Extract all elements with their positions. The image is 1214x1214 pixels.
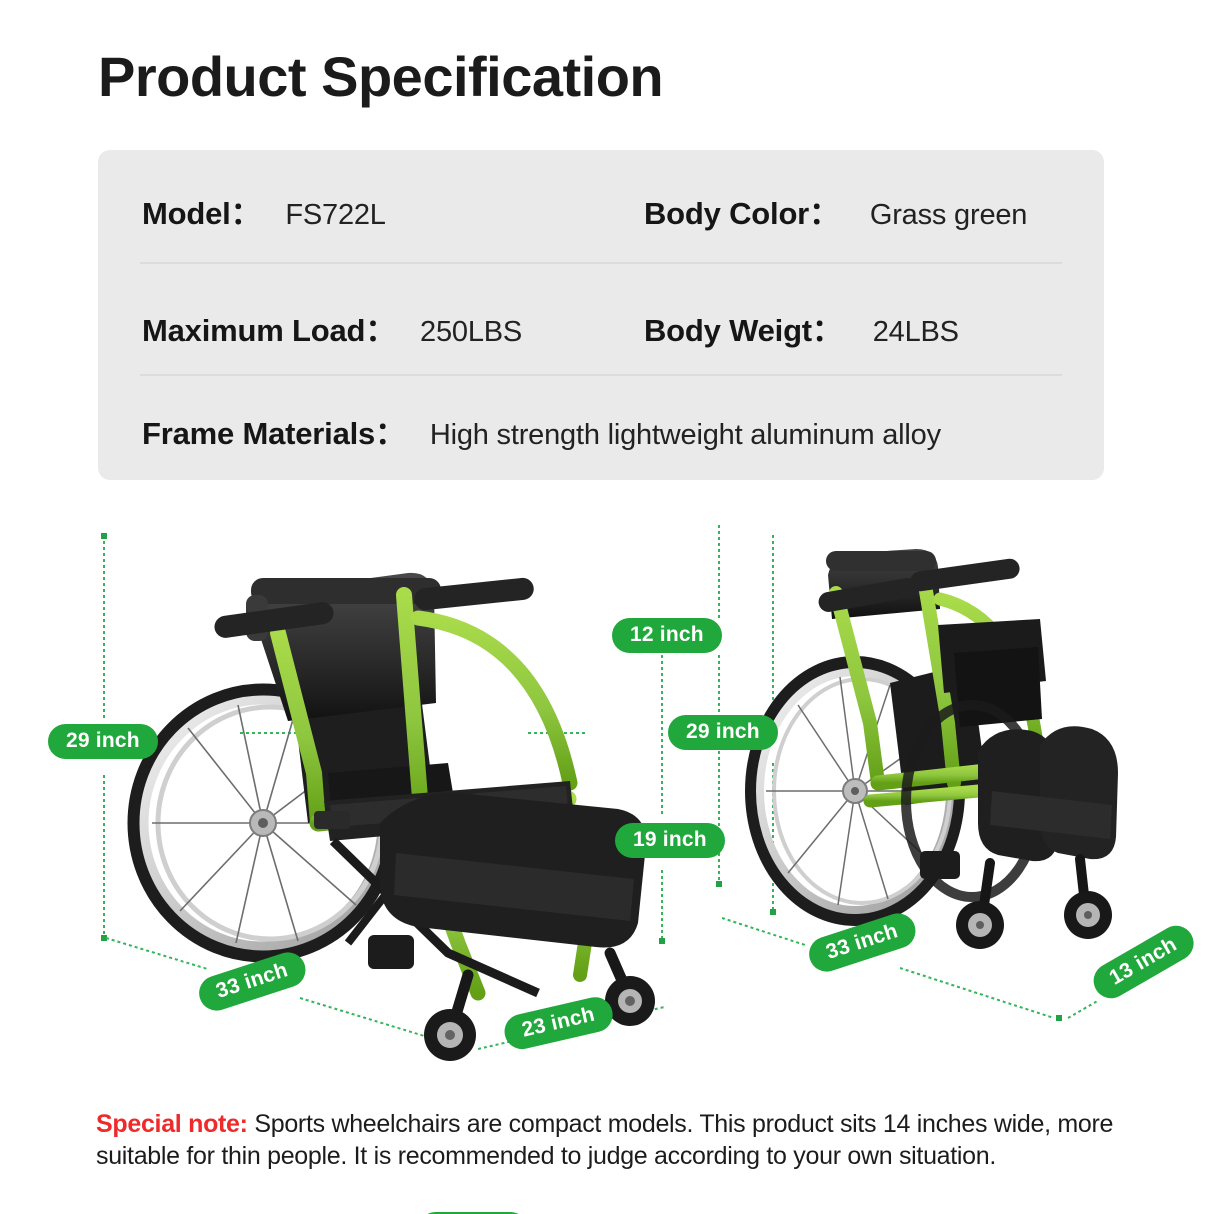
spec-value-model: FS722L — [285, 199, 385, 232]
guide-left-height-lower — [103, 775, 105, 940]
spec-label-maximum-load: Maximum Load： — [142, 305, 396, 350]
spec-cell-model: Model： FS722L — [142, 188, 386, 233]
guide-left-height-upper — [103, 535, 105, 720]
dimension-badge-right-height: 29 inch — [668, 715, 778, 750]
spec-row-frame: Frame Materials： High strength lightweig… — [98, 378, 1104, 488]
spec-label-body-weight: Body Weigt： — [644, 305, 843, 350]
spec-value-maximum-load: 250LBS — [420, 316, 522, 349]
spec-label-model: Model： — [142, 188, 261, 233]
front-angle-wheelchair-image — [740, 533, 1160, 1033]
dimension-badge-left-seat-depth: 19 inch — [615, 823, 725, 858]
special-note: Special note: Sports wheelchairs are com… — [96, 1108, 1116, 1172]
guide-cap-right-backrest — [716, 881, 722, 887]
spec-cell-frame-materials: Frame Materials： High strength lightweig… — [142, 408, 941, 453]
spec-row-model: Model： FS722L Body Color： Grass green — [98, 150, 1104, 260]
spec-value-body-weight: 24LBS — [873, 316, 959, 349]
page-title: Product Specification — [98, 44, 663, 109]
dimension-badge-left-height: 29 inch — [48, 724, 158, 759]
spec-label-frame-materials: Frame Materials： — [142, 408, 406, 453]
spec-value-frame-materials: High strength lightweight aluminum alloy — [430, 419, 941, 452]
spec-divider-1 — [140, 262, 1062, 264]
spec-label-body-color: Body Color： — [644, 188, 840, 233]
spec-value-body-color: Grass green — [870, 199, 1027, 232]
product-specification-page: Product Specification Model： FS722L Body… — [0, 0, 1214, 1214]
guide-cap-left-height-top — [101, 533, 107, 539]
product-gallery: 29 inch 14 inch 19 inch 33 inch 23 inch … — [0, 505, 1214, 1095]
special-note-body: Sports wheelchairs are compact models. T… — [96, 1110, 1113, 1170]
guide-right-backrest-upper — [718, 525, 720, 620]
spec-cell-body-color: Body Color： Grass green — [644, 188, 1027, 233]
special-note-lead: Special note: — [96, 1110, 248, 1138]
spec-row-load: Maximum Load： 250LBS Body Weigt： 24LBS — [98, 267, 1104, 377]
dimension-badge-right-backrest: 12 inch — [612, 618, 722, 653]
spec-cell-maximum-load: Maximum Load： 250LBS — [142, 305, 522, 350]
spec-card: Model： FS722L Body Color： Grass green Ma… — [98, 150, 1104, 480]
spec-cell-body-weight: Body Weigt： 24LBS — [644, 305, 959, 350]
